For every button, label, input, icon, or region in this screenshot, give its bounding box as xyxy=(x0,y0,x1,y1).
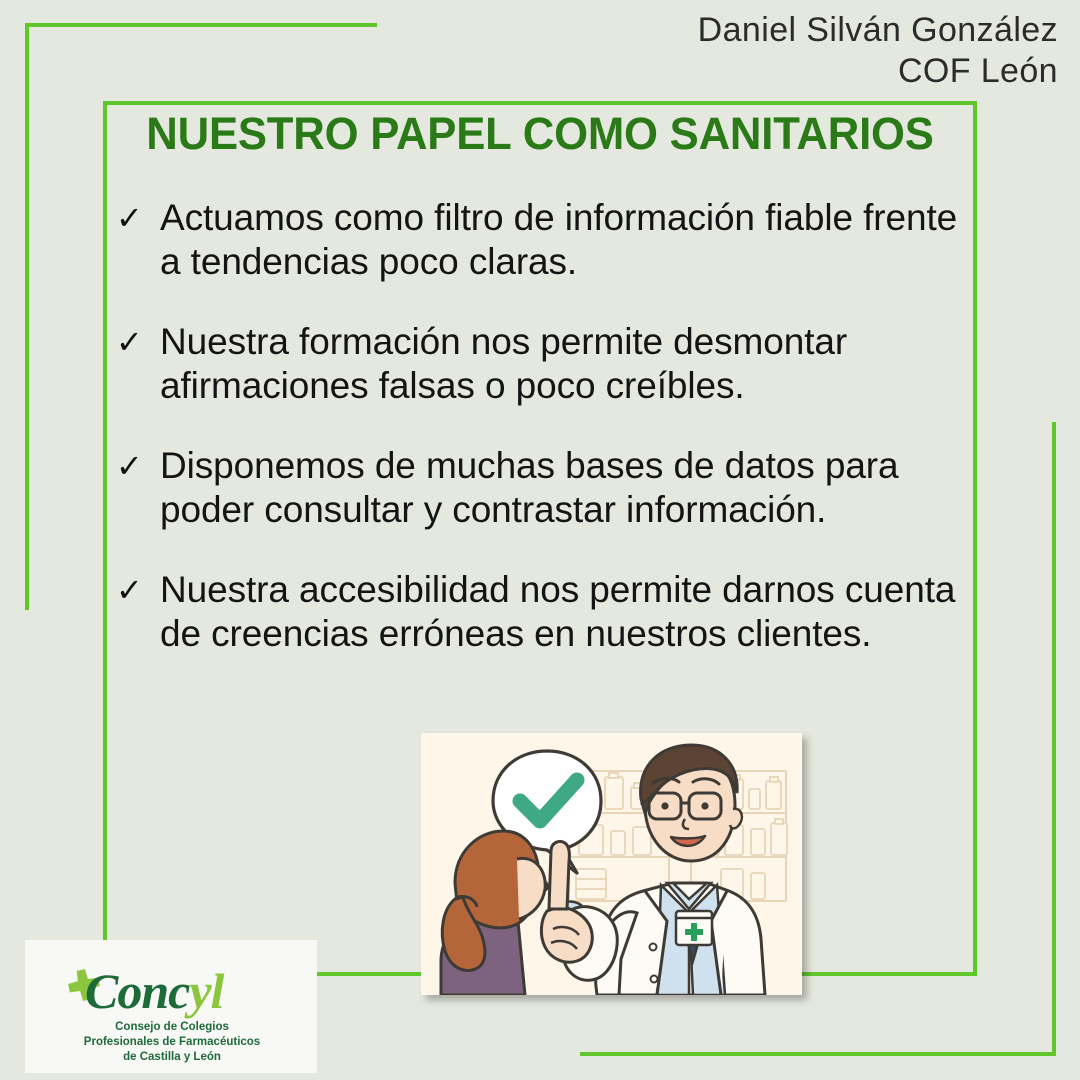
check-bullet-icon: ✓ xyxy=(112,444,160,488)
author-org: COF León xyxy=(698,51,1058,92)
list-item-text: Nuestra formación nos permite desmontar … xyxy=(160,320,972,408)
logo-wordmark-light: yl xyxy=(189,963,223,1019)
logo-tagline-line2: Profesionales de Farmacéuticos xyxy=(47,1035,297,1050)
list-item-text: Disponemos de muchas bases de datos para… xyxy=(160,444,972,532)
decorative-line-bottom xyxy=(580,1052,1056,1056)
list-item: ✓ Actuamos como filtro de información fi… xyxy=(112,196,972,284)
list-item-text: Nuestra accesibilidad nos permite darnos… xyxy=(160,568,972,656)
decorative-line-right xyxy=(1052,422,1056,1056)
page-title: NUESTRO PAPEL COMO SANITARIOS xyxy=(116,108,964,160)
decorative-line-left xyxy=(25,23,29,610)
logo-tagline-line1: Consejo de Colegios xyxy=(47,1020,297,1035)
logo-tagline-line3: de Castilla y León xyxy=(47,1050,297,1065)
check-bullet-icon: ✓ xyxy=(112,196,160,240)
check-bullet-icon: ✓ xyxy=(112,320,160,364)
logo-wordmark-dark: Conc xyxy=(85,963,189,1019)
list-item-text: Actuamos como filtro de información fiab… xyxy=(160,196,972,284)
author-credit: Daniel Silván González COF León xyxy=(698,10,1058,93)
author-name: Daniel Silván González xyxy=(698,10,1058,51)
list-item: ✓ Nuestra formación nos permite desmonta… xyxy=(112,320,972,408)
list-item: ✓ Nuestra accesibilidad nos permite darn… xyxy=(112,568,972,656)
concyl-logo: Concyl Consejo de Colegios Profesionales… xyxy=(25,940,317,1073)
logo-tagline: Consejo de Colegios Profesionales de Far… xyxy=(47,1020,297,1066)
decorative-line-top xyxy=(25,23,377,27)
list-item: ✓ Disponemos de muchas bases de datos pa… xyxy=(112,444,972,532)
pharmacist-illustration xyxy=(421,733,802,995)
bullet-list: ✓ Actuamos como filtro de información fi… xyxy=(112,196,972,692)
check-bullet-icon: ✓ xyxy=(112,568,160,612)
logo-wordmark: Concyl xyxy=(85,962,223,1020)
